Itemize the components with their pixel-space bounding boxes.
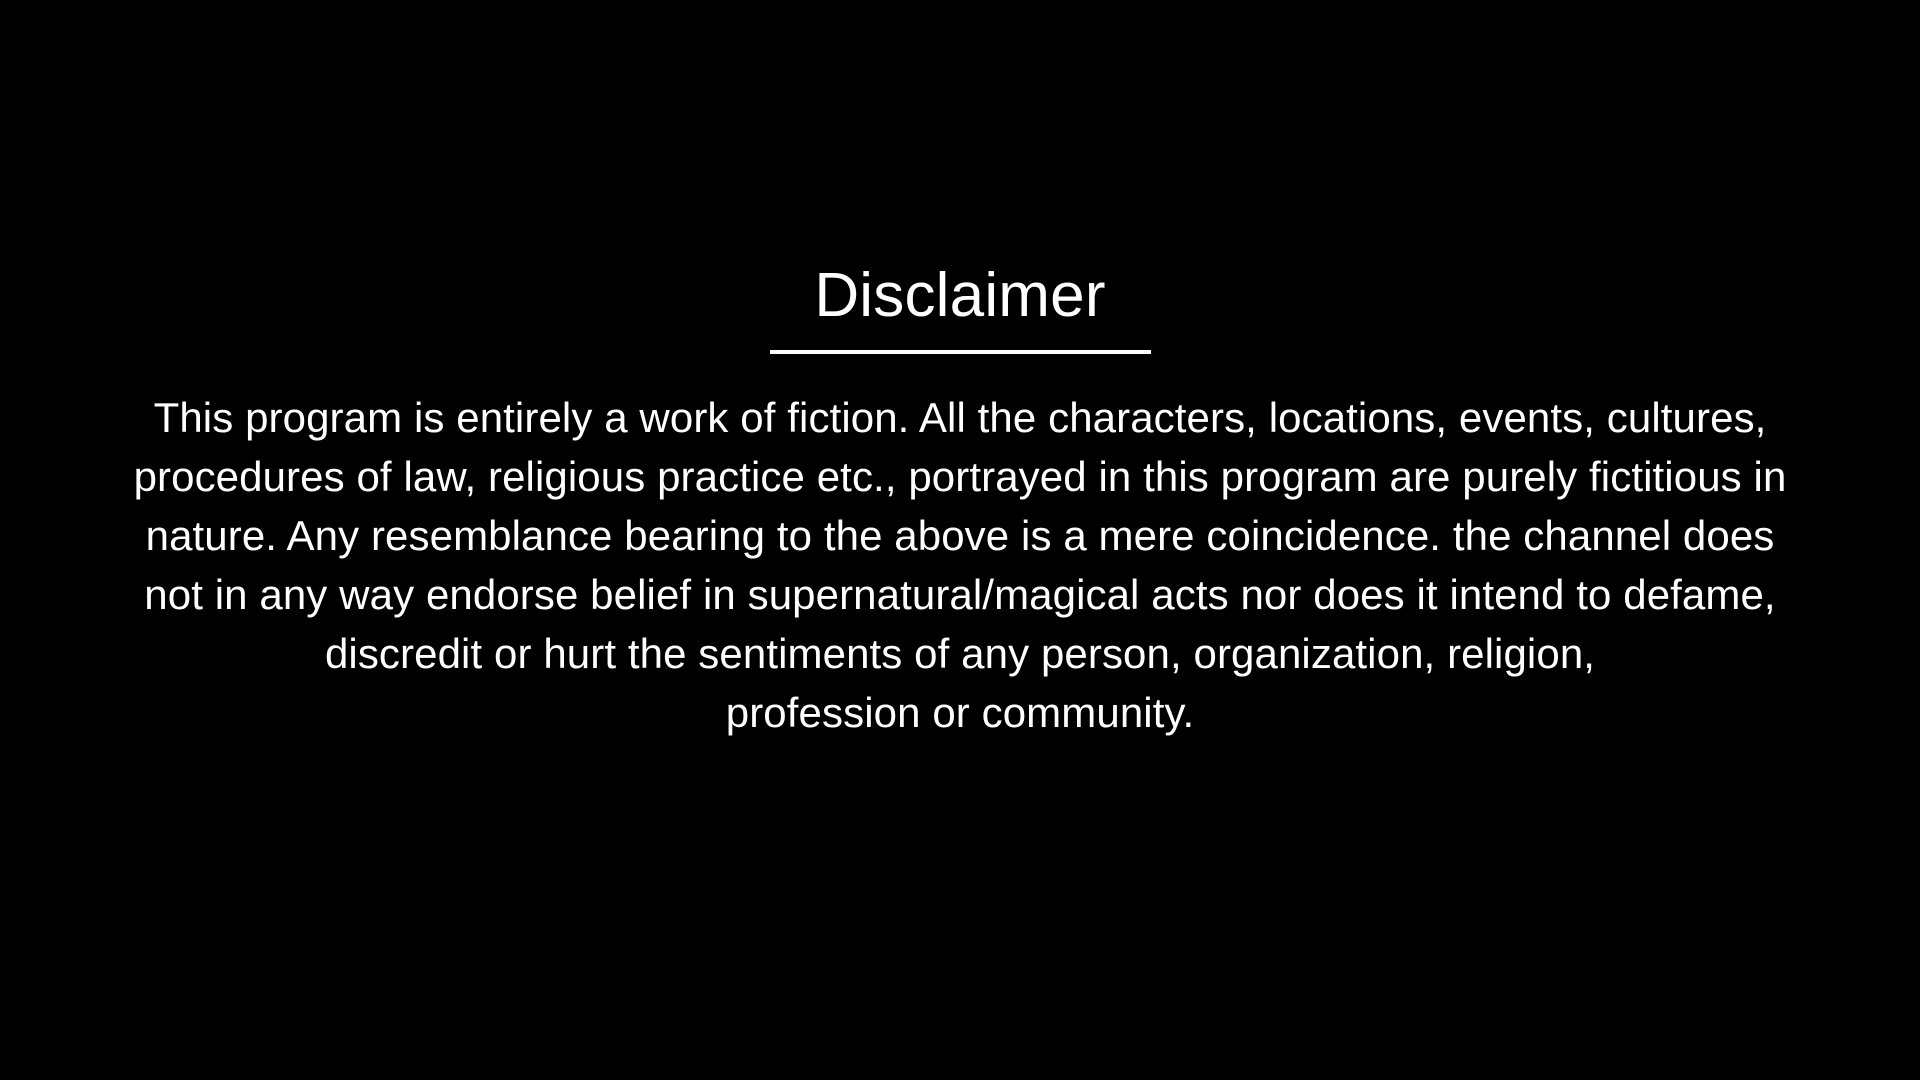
body-line: procedures of law, religious practice et…	[0, 447, 1920, 506]
title-container: Disclaimer	[0, 260, 1920, 354]
body-line: This program is entirely a work of ficti…	[0, 388, 1920, 447]
disclaimer-slide: Disclaimer This program is entirely a wo…	[0, 0, 1920, 1080]
page-title: Disclaimer	[814, 260, 1105, 336]
disclaimer-body: This program is entirely a work of ficti…	[0, 388, 1920, 742]
body-line: profession or community.	[0, 683, 1920, 742]
body-line: discredit or hurt the sentiments of any …	[0, 624, 1920, 683]
title-underline-divider	[770, 350, 1151, 354]
body-line: nature. Any resemblance bearing to the a…	[0, 506, 1920, 565]
disclaimer-content: Disclaimer This program is entirely a wo…	[0, 260, 1920, 742]
body-line: not in any way endorse belief in superna…	[0, 565, 1920, 624]
